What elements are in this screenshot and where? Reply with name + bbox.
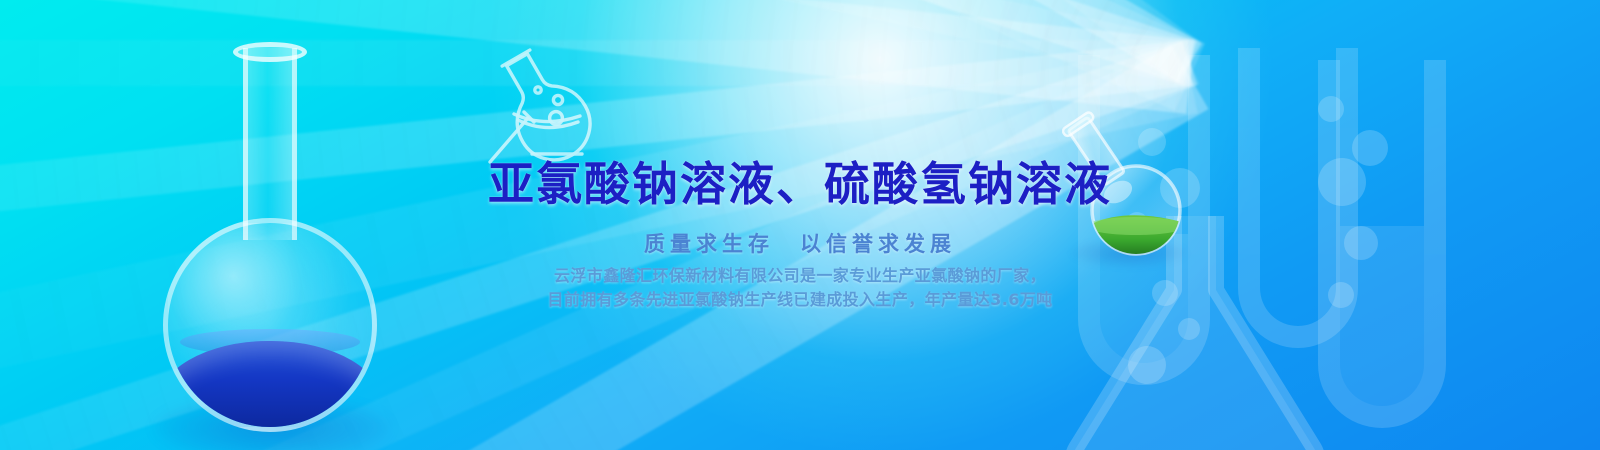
banner-description-line-1: 云浮市鑫隆汇环保新材料有限公司是一家专业生产亚氯酸钠的厂家， — [554, 262, 1046, 286]
banner-title: 亚氯酸钠溶液、硫酸氢钠溶液 — [488, 148, 1112, 214]
banner-text-block: 亚氯酸钠溶液、硫酸氢钠溶液 质量求生存 以信誉求发展 云浮市鑫隆汇环保新材料有限… — [0, 0, 1600, 450]
banner-subtitle: 质量求生存 以信誉求发展 — [644, 228, 956, 258]
banner-description-line-2: 目前拥有多条先进亚氯酸钠生产线已建成投入生产，年产量达3.6万吨 — [547, 286, 1052, 310]
product-banner: 亚氯酸钠溶液、硫酸氢钠溶液 质量求生存 以信誉求发展 云浮市鑫隆汇环保新材料有限… — [0, 0, 1600, 450]
